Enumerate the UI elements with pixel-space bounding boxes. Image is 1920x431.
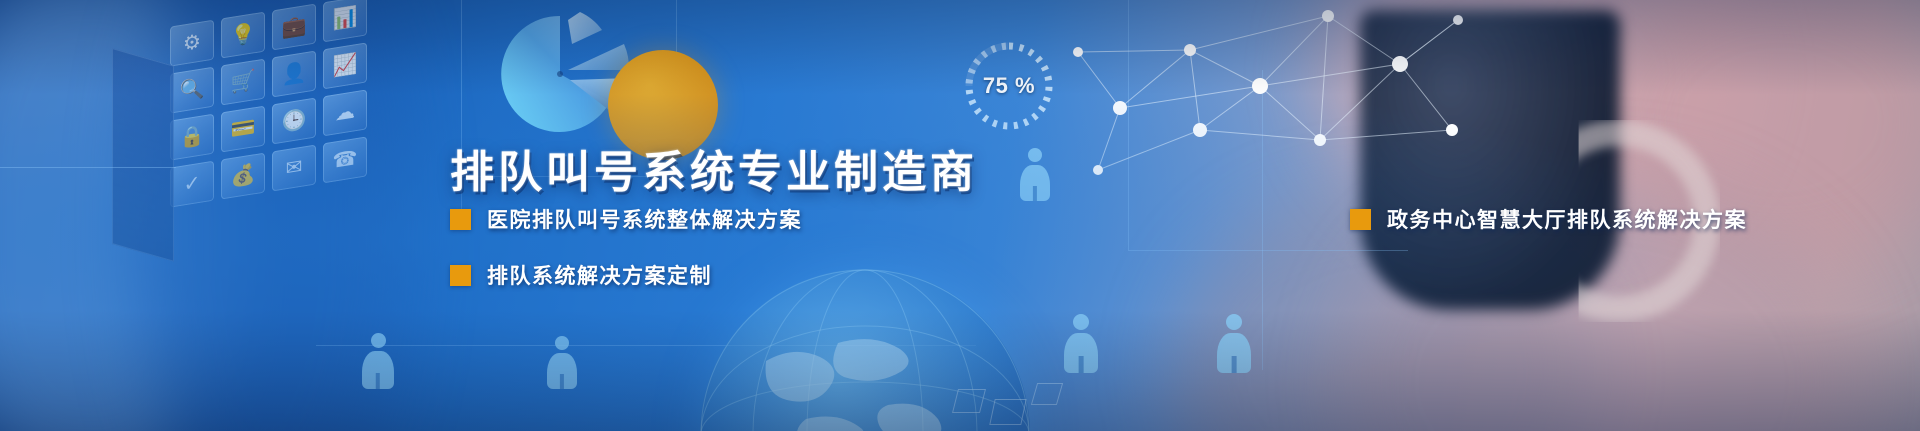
bullet-row-1: 医院排队叫号系统整体解决方案 政务中心智慧大厅排队系统解决方案 — [450, 204, 1550, 260]
bullet-custom-solution: 排队系统解决方案定制 — [450, 260, 712, 290]
promo-banner: ⚙ 💡 💼 📊 🔍 🛒 👤 📈 🔒 💳 🕒 ☁ ✓ 💰 ✉ ☎ — [0, 0, 1920, 431]
bullet-label: 排队系统解决方案定制 — [487, 260, 712, 290]
feature-bullet-list: 医院排队叫号系统整体解决方案 政务中心智慧大厅排队系统解决方案 排队系统解决方案… — [450, 204, 1550, 316]
bullet-government-hall-solution: 政务中心智慧大厅排队系统解决方案 — [1350, 204, 1747, 234]
bullet-square-icon — [450, 265, 471, 286]
bullet-row-2: 排队系统解决方案定制 — [450, 260, 1550, 316]
bullet-label: 政务中心智慧大厅排队系统解决方案 — [1387, 204, 1747, 234]
banner-headline: 排队叫号系统专业制造商 — [450, 136, 978, 200]
bullet-square-icon — [450, 209, 471, 230]
bullet-hospital-solution: 医院排队叫号系统整体解决方案 — [450, 204, 802, 234]
bullet-square-icon — [1350, 209, 1371, 230]
banner-content: 排队叫号系统专业制造商 医院排队叫号系统整体解决方案 政务中心智慧大厅排队系统解… — [0, 0, 1920, 431]
bullet-label: 医院排队叫号系统整体解决方案 — [487, 204, 802, 234]
